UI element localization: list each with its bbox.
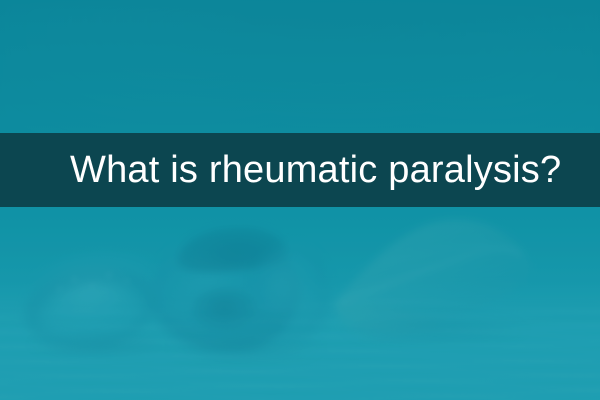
question-card: What is rheumatic paralysis? (0, 0, 600, 400)
title-band-inner: What is rheumatic paralysis? (0, 151, 600, 189)
page-title: What is rheumatic paralysis? (70, 151, 530, 189)
title-band: What is rheumatic paralysis? (0, 133, 600, 207)
